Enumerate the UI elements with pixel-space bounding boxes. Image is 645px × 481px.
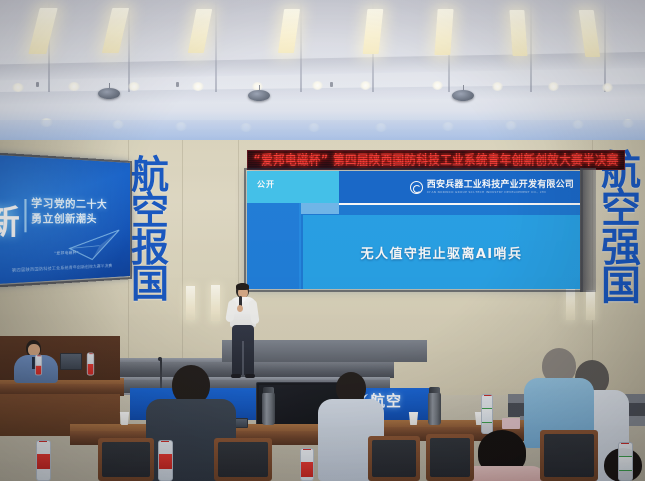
chair bbox=[368, 436, 420, 481]
microphone-head-icon bbox=[158, 357, 162, 361]
ceiling-panel-light bbox=[28, 8, 57, 54]
led-banner-text: “爱邦电磁杯” 第四届陕西国防科技工业系统青年创新创效大赛半决赛 bbox=[253, 151, 618, 169]
water-bottle bbox=[35, 355, 42, 376]
presenter-shoe bbox=[245, 374, 255, 378]
water-bottle bbox=[300, 448, 314, 481]
downlight bbox=[12, 83, 24, 92]
downlight bbox=[548, 82, 559, 91]
conference-hall-photo: 航 空 报 国 航 空 强 国 “爱邦电磁杯” 第四届陕西国防科技工业系统青年创… bbox=[0, 0, 645, 481]
ceiling-panel-light bbox=[509, 10, 527, 56]
ceiling-rib bbox=[215, 0, 217, 92]
wall-sign-left-hangkong-baoguo: 航 空 报 国 bbox=[131, 157, 169, 303]
downlight bbox=[432, 81, 443, 90]
vacuum-flask bbox=[262, 392, 275, 425]
presenter-hand bbox=[237, 305, 243, 312]
ceiling-band bbox=[0, 51, 645, 80]
chair bbox=[540, 430, 598, 481]
water-bottle bbox=[36, 440, 51, 481]
downlight bbox=[492, 82, 503, 91]
chair bbox=[98, 438, 154, 481]
led-banner: “爱邦电磁杯” 第四届陕西国防科技工业系统青年创新创效大赛半决赛 bbox=[247, 150, 625, 170]
ceiling-rib bbox=[530, 0, 532, 92]
water-bottle bbox=[87, 353, 94, 376]
ceiling-rib bbox=[300, 0, 302, 92]
screen-bezel bbox=[244, 168, 583, 292]
downlight bbox=[128, 82, 140, 91]
water-bottle bbox=[158, 440, 173, 481]
wall-sign-char: 报 bbox=[131, 230, 169, 266]
presenter-hair bbox=[236, 283, 249, 290]
chair bbox=[214, 438, 272, 481]
ceiling-rib bbox=[128, 0, 130, 92]
laptop bbox=[60, 353, 82, 370]
wall-sign-right-hangkong-qiangguo: 航 空 强 国 bbox=[601, 152, 641, 306]
ceiling-sensor bbox=[36, 82, 39, 87]
ceiling-panel-light bbox=[102, 8, 129, 53]
notepad bbox=[502, 418, 520, 429]
wall-light-strip bbox=[211, 285, 220, 321]
wall-sign-char: 国 bbox=[601, 267, 641, 305]
wall-sign-char: 强 bbox=[601, 229, 641, 267]
secondary-screen-bezel bbox=[0, 152, 132, 288]
ceiling-panel-light bbox=[579, 10, 601, 57]
ceiling-rib bbox=[604, 0, 606, 92]
ceiling-speaker bbox=[98, 88, 120, 99]
vacuum-flask bbox=[428, 392, 441, 425]
water-bottle bbox=[618, 442, 633, 481]
presenter-leg-split bbox=[242, 341, 244, 375]
ceiling-panel-light bbox=[278, 9, 300, 53]
ceiling-sensor bbox=[330, 82, 333, 87]
downlight bbox=[192, 82, 204, 91]
wall-light-strip bbox=[186, 286, 195, 320]
ceiling bbox=[0, 0, 645, 150]
ceiling-panel-light bbox=[188, 9, 213, 53]
screen-right-frame bbox=[580, 168, 596, 292]
downlight bbox=[360, 81, 371, 90]
wall-light-strip bbox=[586, 290, 595, 320]
water-bottle bbox=[481, 394, 493, 434]
downlight bbox=[68, 82, 80, 91]
ceiling-speaker bbox=[248, 90, 270, 101]
ceiling-panel-light bbox=[363, 9, 384, 54]
chair bbox=[426, 434, 474, 481]
ceiling-speaker bbox=[452, 90, 474, 101]
ceiling-panel-light bbox=[434, 9, 453, 55]
wall-light-strip bbox=[566, 288, 575, 320]
wall-sign-char: 空 bbox=[601, 190, 641, 228]
ceiling-sensor bbox=[176, 82, 179, 87]
wall-sign-char: 国 bbox=[131, 266, 169, 302]
wall-sign-char: 航 bbox=[131, 157, 169, 193]
downlight bbox=[312, 81, 323, 90]
downlight bbox=[602, 83, 613, 92]
wall-sign-char: 空 bbox=[131, 193, 169, 229]
